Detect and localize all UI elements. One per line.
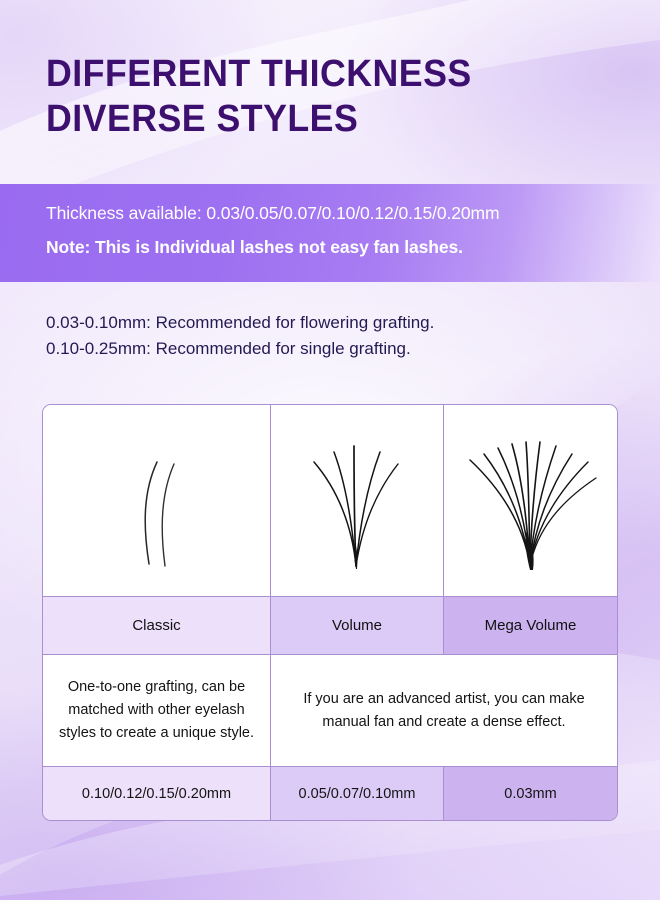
description-classic: One-to-one grafting, can be matched with… xyxy=(43,655,271,767)
style-label-classic: Classic xyxy=(43,597,271,655)
style-label-volume: Volume xyxy=(271,597,444,655)
page-title: DIFFERENT THICKNESS DIVERSE STYLES xyxy=(46,52,626,142)
table-row-style-labels: Classic Volume Mega Volume xyxy=(43,597,617,655)
lash-comparison-table: Classic Volume Mega Volume One-to-one gr… xyxy=(42,404,618,821)
recommendation-notes: 0.03-0.10mm: Recommended for flowering g… xyxy=(46,310,626,362)
page-title-line-1: DIFFERENT THICKNESS xyxy=(46,52,591,97)
page-title-line-2: DIVERSE STYLES xyxy=(46,97,591,142)
recommendation-note-2: 0.10-0.25mm: Recommended for single graf… xyxy=(46,336,626,362)
classic-lash-cell xyxy=(43,405,271,597)
mega-volume-lash-cell xyxy=(444,405,617,597)
mega-volume-fan-icon xyxy=(456,426,606,576)
thickness-classic: 0.10/0.12/0.15/0.20mm xyxy=(43,767,271,820)
thickness-mega-volume: 0.03mm xyxy=(444,767,617,820)
banner-thickness-available: Thickness available: 0.03/0.05/0.07/0.10… xyxy=(46,201,660,225)
style-label-mega-volume: Mega Volume xyxy=(444,597,617,655)
thickness-banner: Thickness available: 0.03/0.05/0.07/0.10… xyxy=(0,184,660,282)
volume-lash-cell xyxy=(271,405,444,597)
thickness-volume: 0.05/0.07/0.10mm xyxy=(271,767,444,820)
description-volume-mega: If you are an advanced artist, you can m… xyxy=(271,655,617,767)
table-row-lash-images xyxy=(43,405,617,597)
recommendation-note-1: 0.03-0.10mm: Recommended for flowering g… xyxy=(46,310,626,336)
classic-lash-icon xyxy=(97,426,217,576)
volume-fan-icon xyxy=(292,426,422,576)
table-row-thickness: 0.10/0.12/0.15/0.20mm 0.05/0.07/0.10mm 0… xyxy=(43,767,617,820)
table-row-descriptions: One-to-one grafting, can be matched with… xyxy=(43,655,617,767)
banner-note: Note: This is Individual lashes not easy… xyxy=(46,235,660,259)
